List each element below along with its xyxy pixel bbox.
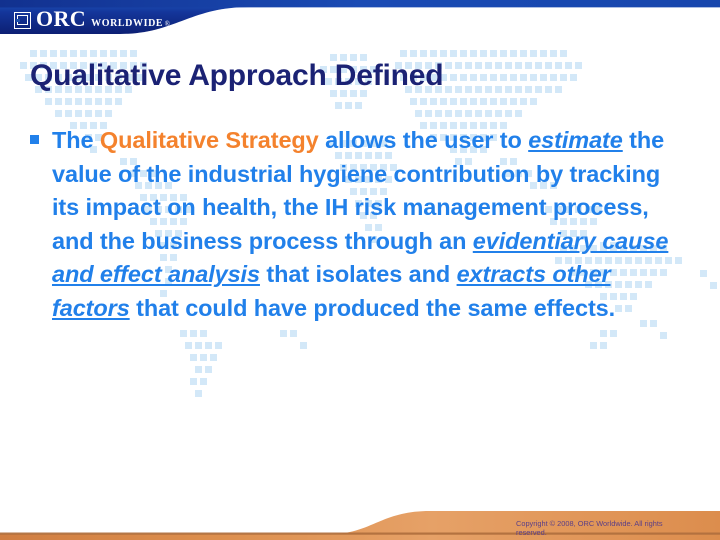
presentation-slide: ORC WORLDWIDE ® Qualitative Approach Def… — [0, 0, 720, 540]
orc-square-logo-icon — [14, 12, 31, 29]
bullet-paragraph: The Qualitative Strategy allows the user… — [52, 124, 690, 326]
orc-worldwide-logo: ORC WORLDWIDE ® — [14, 8, 170, 32]
copyright-line-2: reserved. — [516, 528, 716, 538]
copyright-notice: Copyright © 2008, ORC Worldwide. All rig… — [516, 519, 716, 538]
slide-body: The Qualitative Strategy allows the user… — [30, 124, 690, 326]
square-bullet-icon — [30, 135, 39, 144]
slide-title: Qualitative Approach Defined — [30, 58, 690, 94]
text-seg-estimate: estimate — [528, 127, 623, 153]
copyright-line-1: Copyright © 2008, ORC Worldwide. All rig… — [516, 519, 716, 529]
text-seg-2: allows the user to — [319, 127, 529, 153]
bullet-list-item: The Qualitative Strategy allows the user… — [30, 124, 690, 326]
text-seg-8: that could have produced the same effect… — [130, 295, 615, 321]
text-seg-0: The — [52, 127, 100, 153]
logo-primary-text: ORC — [36, 8, 86, 30]
text-seg-6: that isolates and — [260, 261, 457, 287]
text-seg-qualitative-strategy: Qualitative Strategy — [100, 127, 319, 153]
logo-secondary-text: WORLDWIDE — [91, 19, 163, 29]
registered-trademark-icon: ® — [165, 21, 170, 28]
